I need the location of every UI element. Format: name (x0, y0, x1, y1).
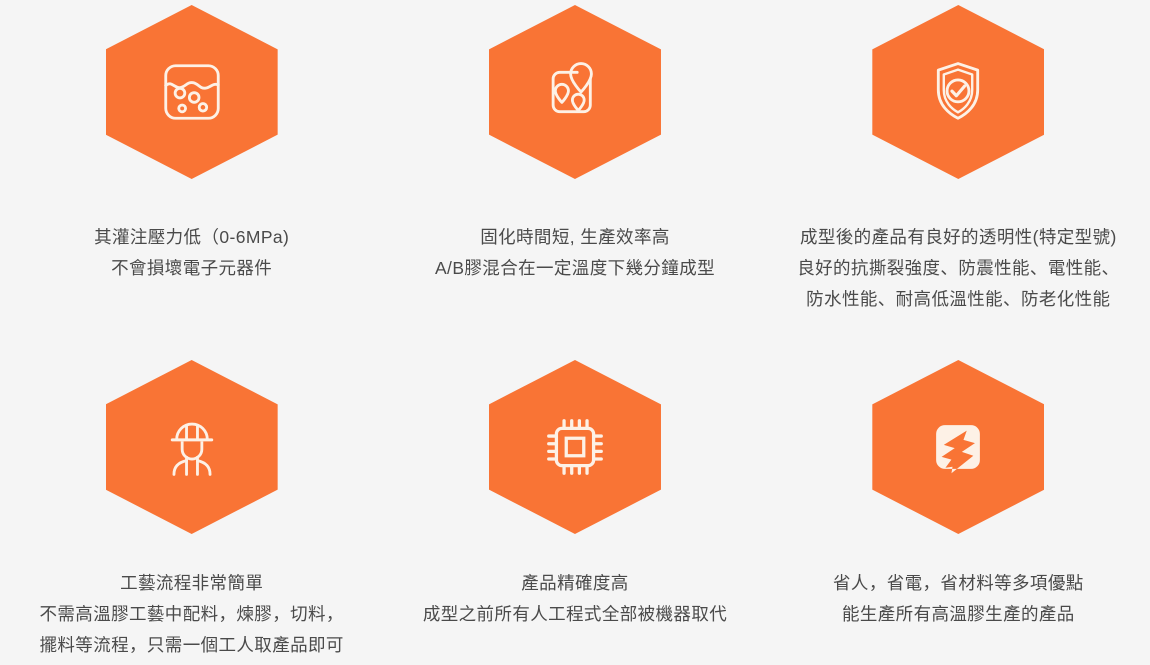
feature-card-5: 產品精確度高 成型之前所有人工程式全部被機器取代 (383, 338, 766, 665)
hexagon-shape (489, 360, 661, 534)
feature-line: 成型之前所有人工程式全部被機器取代 (389, 599, 760, 630)
hexagon-shape (872, 360, 1044, 534)
hexagon-shape (872, 5, 1044, 179)
feature-line: 產品精確度高 (389, 568, 760, 599)
hexagon-badge-1 (106, 0, 278, 179)
feature-line: 能生產所有高溫膠生產的產品 (773, 599, 1144, 630)
shield-check-icon (923, 57, 993, 127)
feature-line: 不需高溫膠工藝中配料，煉膠，切料， (6, 599, 377, 630)
feature-line: 省人，省電，省材料等多項優點 (773, 568, 1144, 599)
feature-line: 不會損壞電子元器件 (6, 253, 377, 284)
feature-description-3: 成型後的產品有良好的透明性(特定型號) 良好的抗撕裂強度、防震性能、電性能、 防… (767, 179, 1150, 315)
feature-description-2: 固化時間短, 生產效率高 A/B膠混合在一定溫度下幾分鐘成型 (383, 179, 766, 284)
map-location-pins-icon (540, 57, 610, 127)
feature-description-4: 工藝流程非常簡單 不需高溫膠工藝中配料，煉膠，切料， 擺料等流程，只需一個工人取… (0, 534, 383, 661)
feature-card-1: 其灌注壓力低（0-6MPa) 不會損壞電子元器件 (0, 0, 383, 338)
feature-line: 成型後的產品有良好的透明性(特定型號) (773, 222, 1144, 253)
worker-hardhat-icon (157, 412, 227, 482)
feature-card-6: 省人，省電，省材料等多項優點 能生產所有高溫膠生產的產品 (767, 338, 1150, 665)
feature-card-3: 成型後的產品有良好的透明性(特定型號) 良好的抗撕裂強度、防震性能、電性能、 防… (767, 0, 1150, 338)
hexagon-badge-6 (872, 338, 1044, 534)
microchip-icon (540, 412, 610, 482)
feature-description-1: 其灌注壓力低（0-6MPa) 不會損壞電子元器件 (0, 179, 383, 284)
hexagon-badge-3 (872, 0, 1044, 179)
feature-description-6: 省人，省電，省材料等多項優點 能生產所有高溫膠生產的產品 (767, 534, 1150, 630)
feature-line: 工藝流程非常簡單 (6, 568, 377, 599)
feature-card-2: 固化時間短, 生產效率高 A/B膠混合在一定溫度下幾分鐘成型 (383, 0, 766, 338)
hexagon-badge-4 (106, 338, 278, 534)
feature-line: 其灌注壓力低（0-6MPa) (6, 222, 377, 253)
lightning-bolt-icon (923, 412, 993, 482)
feature-line: 良好的抗撕裂強度、防震性能、電性能、 (773, 253, 1144, 284)
feature-card-4: 工藝流程非常簡單 不需高溫膠工藝中配料，煉膠，切料， 擺料等流程，只需一個工人取… (0, 338, 383, 665)
feature-description-5: 產品精確度高 成型之前所有人工程式全部被機器取代 (383, 534, 766, 630)
hexagon-shape (489, 5, 661, 179)
feature-line: 擺料等流程，只需一個工人取產品即可 (6, 630, 377, 661)
feature-line: 防水性能、耐高低溫性能、防老化性能 (773, 284, 1144, 315)
hexagon-shape (106, 5, 278, 179)
hexagon-badge-5 (489, 338, 661, 534)
feature-line: A/B膠混合在一定溫度下幾分鐘成型 (389, 253, 760, 284)
hexagon-badge-2 (489, 0, 661, 179)
liquid-container-bubbles-icon (157, 57, 227, 127)
features-grid: 其灌注壓力低（0-6MPa) 不會損壞電子元器件 固化時間短, 生產效率高 A/… (0, 0, 1150, 665)
hexagon-shape (106, 360, 278, 534)
feature-line: 固化時間短, 生產效率高 (389, 222, 760, 253)
